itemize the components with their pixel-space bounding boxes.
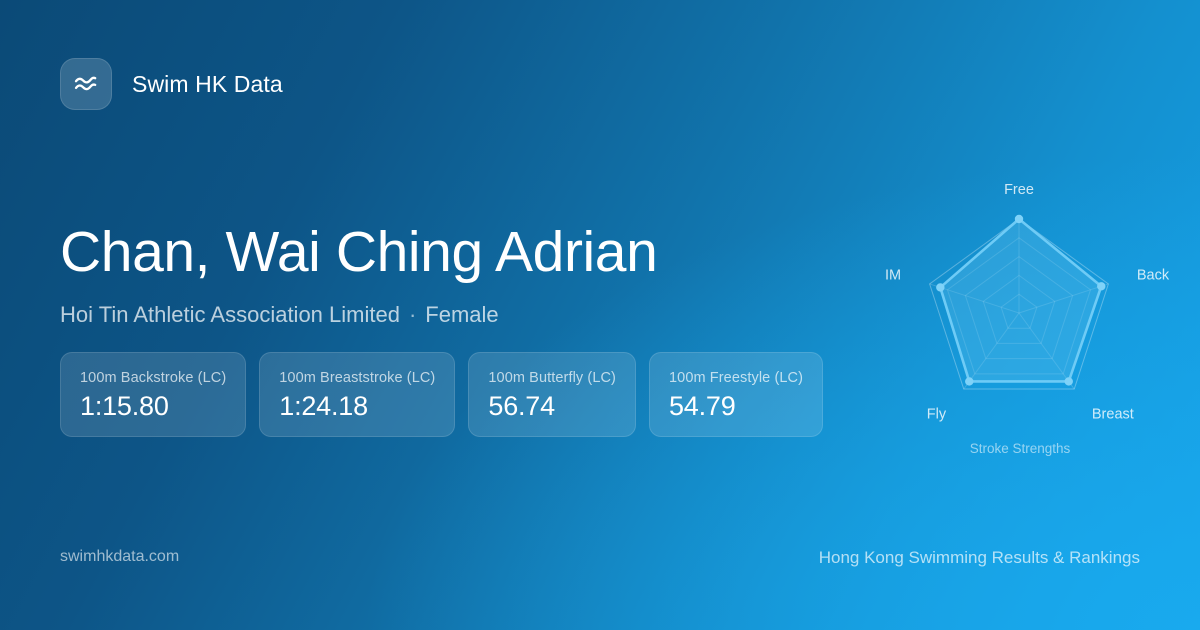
stat-card-label: 100m Backstroke (LC) [80,370,226,386]
radar-axis-label: Free [1004,182,1034,198]
radar-axis-label: Back [1137,268,1170,284]
radar-data-point [1097,282,1105,290]
stroke-strengths-radar-chart: FreeBackBreastFlyIM Stroke Strengths [860,160,1180,480]
meta-separator: · [409,302,416,328]
athlete-club: Hoi Tin Athletic Association Limited [60,302,400,328]
stat-card: 100m Freestyle (LC) 54.79 [649,352,823,437]
athlete-meta: Hoi Tin Athletic Association Limited · F… [60,302,657,328]
radar-series-area [940,219,1101,381]
stat-card: 100m Breaststroke (LC) 1:24.18 [259,352,455,437]
stat-card-value: 1:24.18 [279,393,435,420]
radar-data-point [965,377,973,385]
stat-card: 100m Backstroke (LC) 1:15.80 [60,352,246,437]
headline-block: Chan, Wai Ching Adrian Hoi Tin Athletic … [60,222,657,328]
brand-name: Swim HK Data [132,71,283,98]
stat-card-value: 56.74 [488,393,616,420]
stat-card-value: 1:15.80 [80,393,226,420]
page-title: Chan, Wai Ching Adrian [60,222,657,282]
radar-data-point [1065,377,1073,385]
stat-card-label: 100m Freestyle (LC) [669,370,803,386]
stat-card-label: 100m Butterfly (LC) [488,370,616,386]
stat-card-list: 100m Backstroke (LC) 1:15.80 100m Breast… [60,352,823,437]
brand-header: Swim HK Data [60,58,283,110]
stat-card-value: 54.79 [669,393,803,420]
radar-axis-label: Fly [927,406,947,422]
radar-data-point [936,283,944,291]
wave-icon [60,58,112,110]
stat-card: 100m Butterfly (LC) 56.74 [468,352,636,437]
stat-card-label: 100m Breaststroke (LC) [279,370,435,386]
radar-axis-label: IM [885,268,901,284]
share-card: Swim HK Data Chan, Wai Ching Adrian Hoi … [0,0,1200,630]
radar-data-point [1015,215,1023,223]
radar-caption: Stroke Strengths [860,441,1180,456]
athlete-gender: Female [425,302,498,328]
radar-axis-label: Breast [1092,406,1134,422]
footer-site-url: swimhkdata.com [60,548,179,566]
footer-tagline: Hong Kong Swimming Results & Rankings [819,548,1140,568]
